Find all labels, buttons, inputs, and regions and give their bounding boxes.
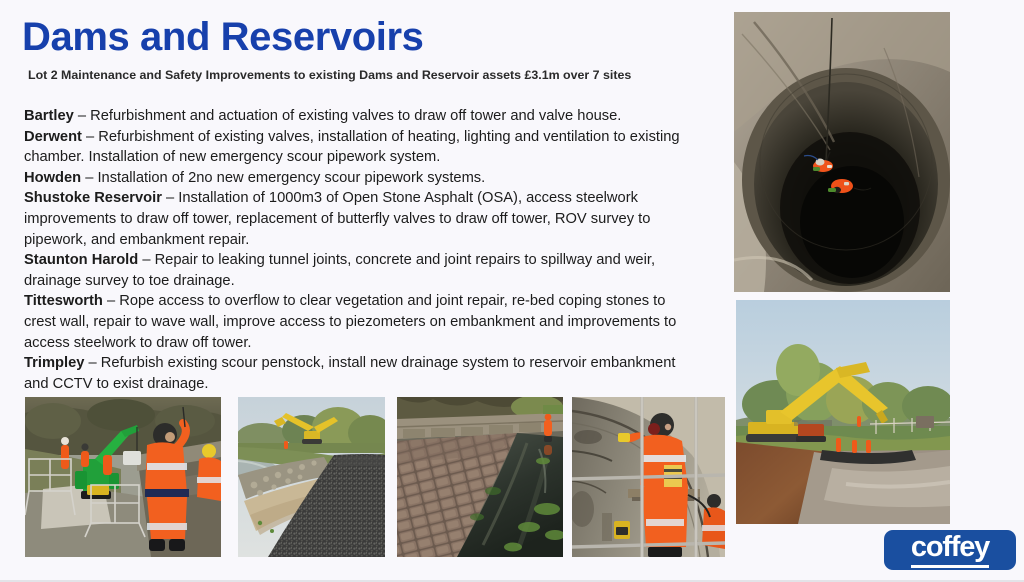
photo-stone-pitched-spillway: [397, 397, 563, 557]
site-name: Staunton Harold: [24, 252, 138, 268]
site-description: – Rope access to overflow to clear veget…: [24, 293, 676, 350]
site-name: Howden: [24, 170, 81, 186]
site-name: Trimpley: [24, 355, 84, 371]
slide-canvas: Dams and Reservoirs Lot 2 Maintenance an…: [0, 0, 1024, 582]
logo-text: coffey: [911, 533, 989, 568]
site-name: Shustoke Reservoir: [24, 190, 162, 206]
list-item: Howden – Installation of 2no new emergen…: [24, 168, 684, 189]
site-name: Derwent: [24, 129, 82, 145]
page-subtitle: Lot 2 Maintenance and Safety Improvement…: [28, 68, 631, 82]
site-description: – Refurbishment of existing valves, inst…: [24, 129, 680, 166]
list-item: Bartley – Refurbishment and actuation of…: [24, 106, 684, 127]
list-item: Tittesworth – Rope access to overflow to…: [24, 291, 684, 353]
site-description: – Refurbish existing scour penstock, ins…: [24, 355, 675, 392]
site-name: Tittesworth: [24, 293, 103, 309]
list-item: Shustoke Reservoir – Installation of 100…: [24, 188, 684, 250]
photo-spider-crane-crest: [25, 397, 221, 557]
photo-tunnel-joint-repair: [572, 397, 725, 557]
page-title: Dams and Reservoirs: [22, 16, 423, 58]
list-item: Trimpley – Refurbish existing scour pens…: [24, 353, 684, 394]
site-scope-list: Bartley – Refurbishment and actuation of…: [24, 106, 684, 394]
photo-open-stone-asphalt: [238, 397, 385, 557]
site-name: Bartley: [24, 108, 74, 124]
list-item: Derwent – Refurbishment of existing valv…: [24, 127, 684, 168]
list-item: Staunton Harold – Repair to leaking tunn…: [24, 250, 684, 291]
coffey-logo: coffey: [884, 530, 1016, 570]
photo-long-reach-excavator: [736, 300, 950, 524]
photo-draw-off-shaft: [734, 12, 950, 292]
site-description: – Refurbishment and actuation of existin…: [74, 108, 622, 124]
site-description: – Installation of 2no new emergency scou…: [81, 170, 485, 186]
